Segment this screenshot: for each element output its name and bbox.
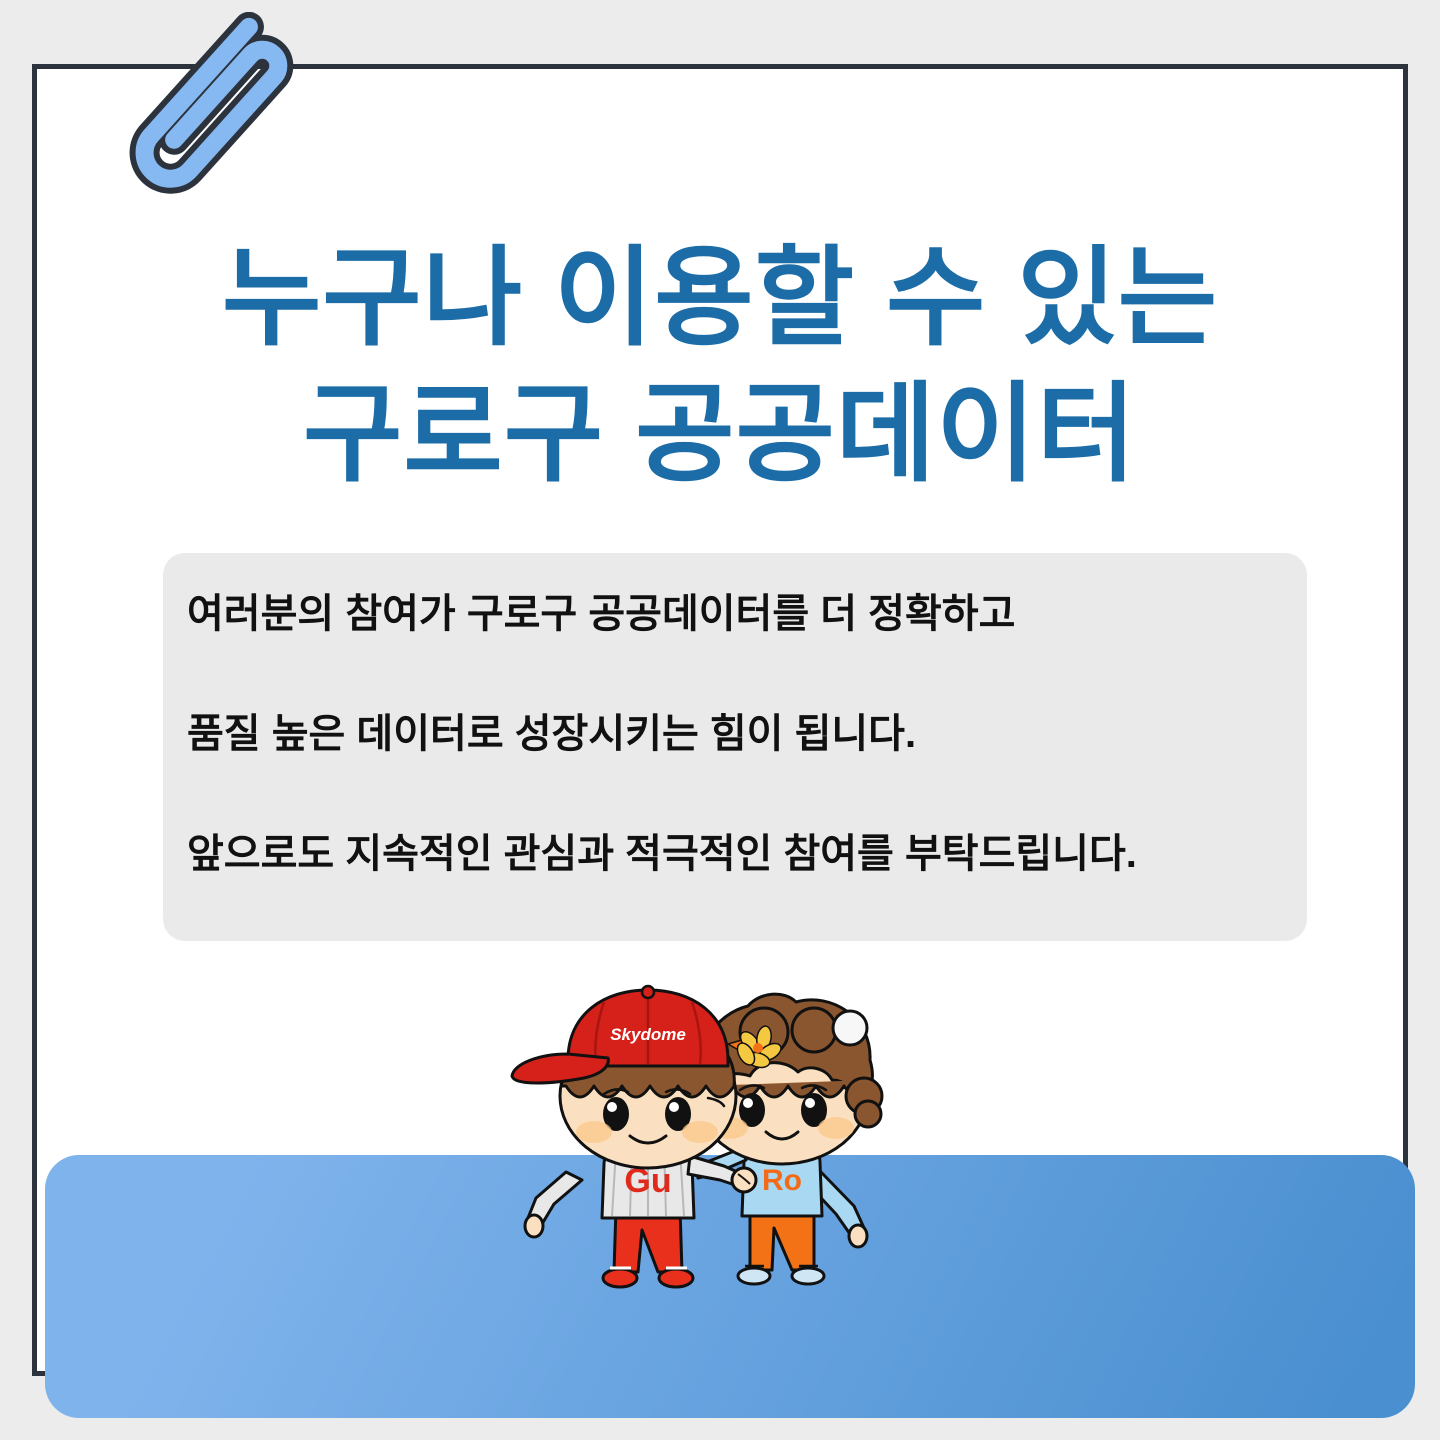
title-line-2: 구로구 공공데이터 (0, 364, 1440, 504)
message-box: 여러분의 참여가 구로구 공공데이터를 더 정확하고 품질 높은 데이터로 성장… (163, 553, 1307, 941)
page-title: 누구나 이용할 수 있는 구로구 공공데이터 (0, 228, 1440, 505)
message-line-2: 품질 높은 데이터로 성장시키는 힘이 됩니다. (187, 711, 1277, 757)
message-line-1: 여러분의 참여가 구로구 공공데이터를 더 정확하고 (187, 591, 1277, 637)
message-line-3: 앞으로도 지속적인 관심과 적극적인 참여를 부탁드립니다. (187, 831, 1277, 877)
bottom-gradient-panel (45, 1155, 1415, 1418)
title-line-1: 누구나 이용할 수 있는 (0, 228, 1440, 368)
